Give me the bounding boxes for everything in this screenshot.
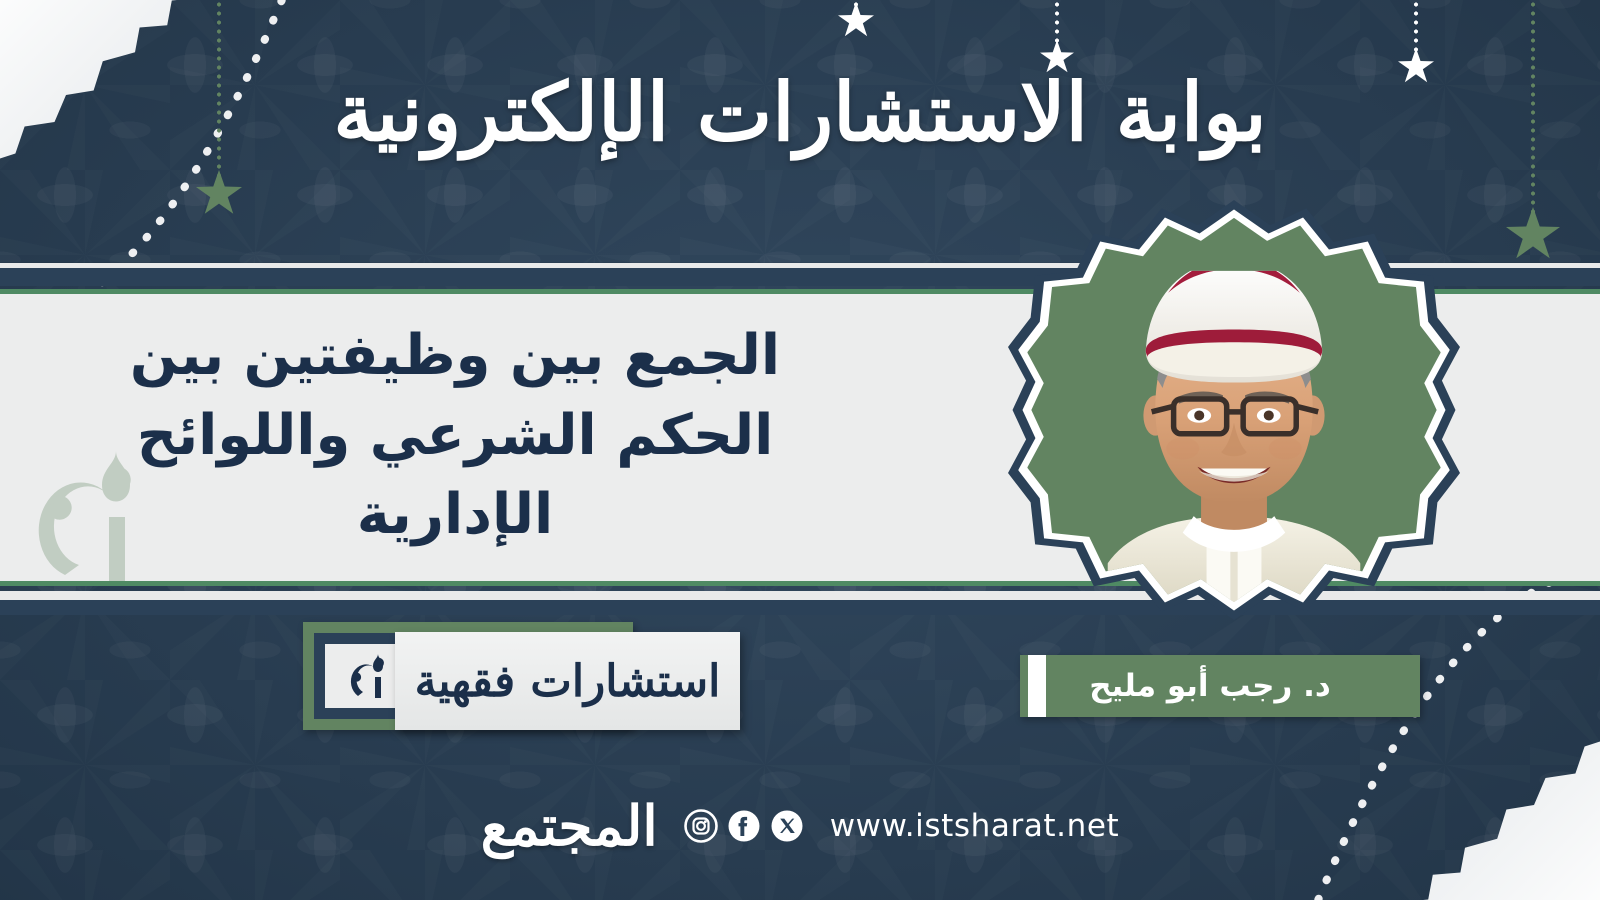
speaker-portrait-frame [1008, 200, 1460, 620]
brand-wordmark: المجتمع [481, 798, 658, 853]
mosque-crescent-icon [342, 652, 396, 700]
main-title-line-1: الجمع بين وظيفتين بين [70, 316, 840, 396]
x-twitter-icon[interactable] [770, 809, 804, 843]
poster-canvas: بوابة الاستشارات الإلكترونية الجمع بين و… [0, 0, 1600, 900]
website-url-label[interactable]: www.istsharat.net [830, 808, 1120, 844]
star-string [1055, 0, 1059, 44]
badge-accent-tab [1028, 655, 1046, 717]
speaker-name-badge: د. رجب أبو مليح [1020, 655, 1420, 717]
social-links-row [684, 809, 804, 843]
category-plaque: استشارات فقهية [303, 622, 740, 740]
header-calligraphy-title: بوابة الاستشارات الإلكترونية [0, 62, 1600, 162]
speaker-name-label: د. رجب أبو مليح [1089, 668, 1351, 704]
plaque-label-container: استشارات فقهية [395, 632, 740, 730]
footer-bar: المجتمع [0, 778, 1600, 873]
star-string [1414, 0, 1418, 52]
main-subject-title: الجمع بين وظيفتين بين الحكم الشرعي واللو… [70, 316, 840, 555]
facebook-icon[interactable] [727, 809, 761, 843]
category-label: استشارات فقهية [415, 656, 721, 707]
main-title-line-2: الحكم الشرعي واللوائح الإدارية [70, 396, 840, 555]
instagram-icon[interactable] [684, 809, 718, 843]
